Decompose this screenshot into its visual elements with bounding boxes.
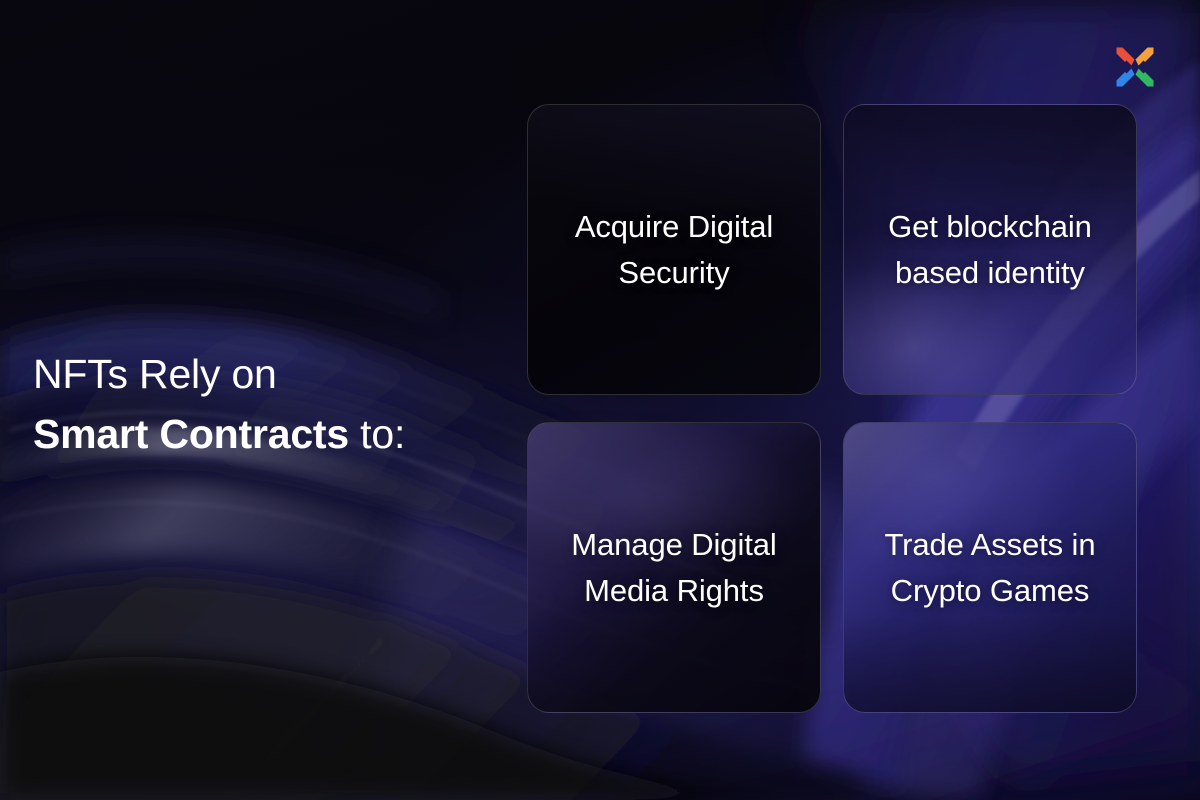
card-label-line-1: Acquire Digital — [575, 209, 773, 244]
card-label-line-2: Security — [618, 255, 729, 290]
pinwheel-x-logo-icon[interactable] — [1110, 42, 1160, 92]
headline-line-1: NFTs Rely on — [33, 344, 503, 404]
card-label: Get blockchain based identity — [876, 204, 1104, 296]
card-label-line-1: Get blockchain — [888, 209, 1092, 244]
card-label-line-1: Trade Assets in — [884, 527, 1095, 562]
card-manage-digital-media-rights[interactable]: Manage Digital Media Rights — [527, 422, 821, 713]
headline-line-2: Smart Contracts to: — [33, 404, 503, 464]
card-get-blockchain-based-identity[interactable]: Get blockchain based identity — [843, 104, 1137, 395]
card-acquire-digital-security[interactable]: Acquire Digital Security — [527, 104, 821, 395]
benefit-card-grid: Acquire Digital Security Get blockchain … — [527, 104, 1137, 713]
headline-suffix: to: — [349, 411, 405, 457]
card-label-line-2: based identity — [895, 255, 1085, 290]
card-label-line-2: Media Rights — [584, 573, 764, 608]
card-label: Acquire Digital Security — [563, 204, 785, 296]
infographic-canvas: NFTs Rely on Smart Contracts to: Acquire… — [0, 0, 1200, 800]
card-label: Manage Digital Media Rights — [559, 522, 788, 614]
headline-emphasis: Smart Contracts — [33, 411, 349, 457]
card-label-line-2: Crypto Games — [891, 573, 1090, 608]
page-title: NFTs Rely on Smart Contracts to: — [33, 344, 503, 464]
card-label: Trade Assets in Crypto Games — [872, 522, 1107, 614]
card-trade-assets-in-crypto-games[interactable]: Trade Assets in Crypto Games — [843, 422, 1137, 713]
card-label-line-1: Manage Digital — [571, 527, 776, 562]
